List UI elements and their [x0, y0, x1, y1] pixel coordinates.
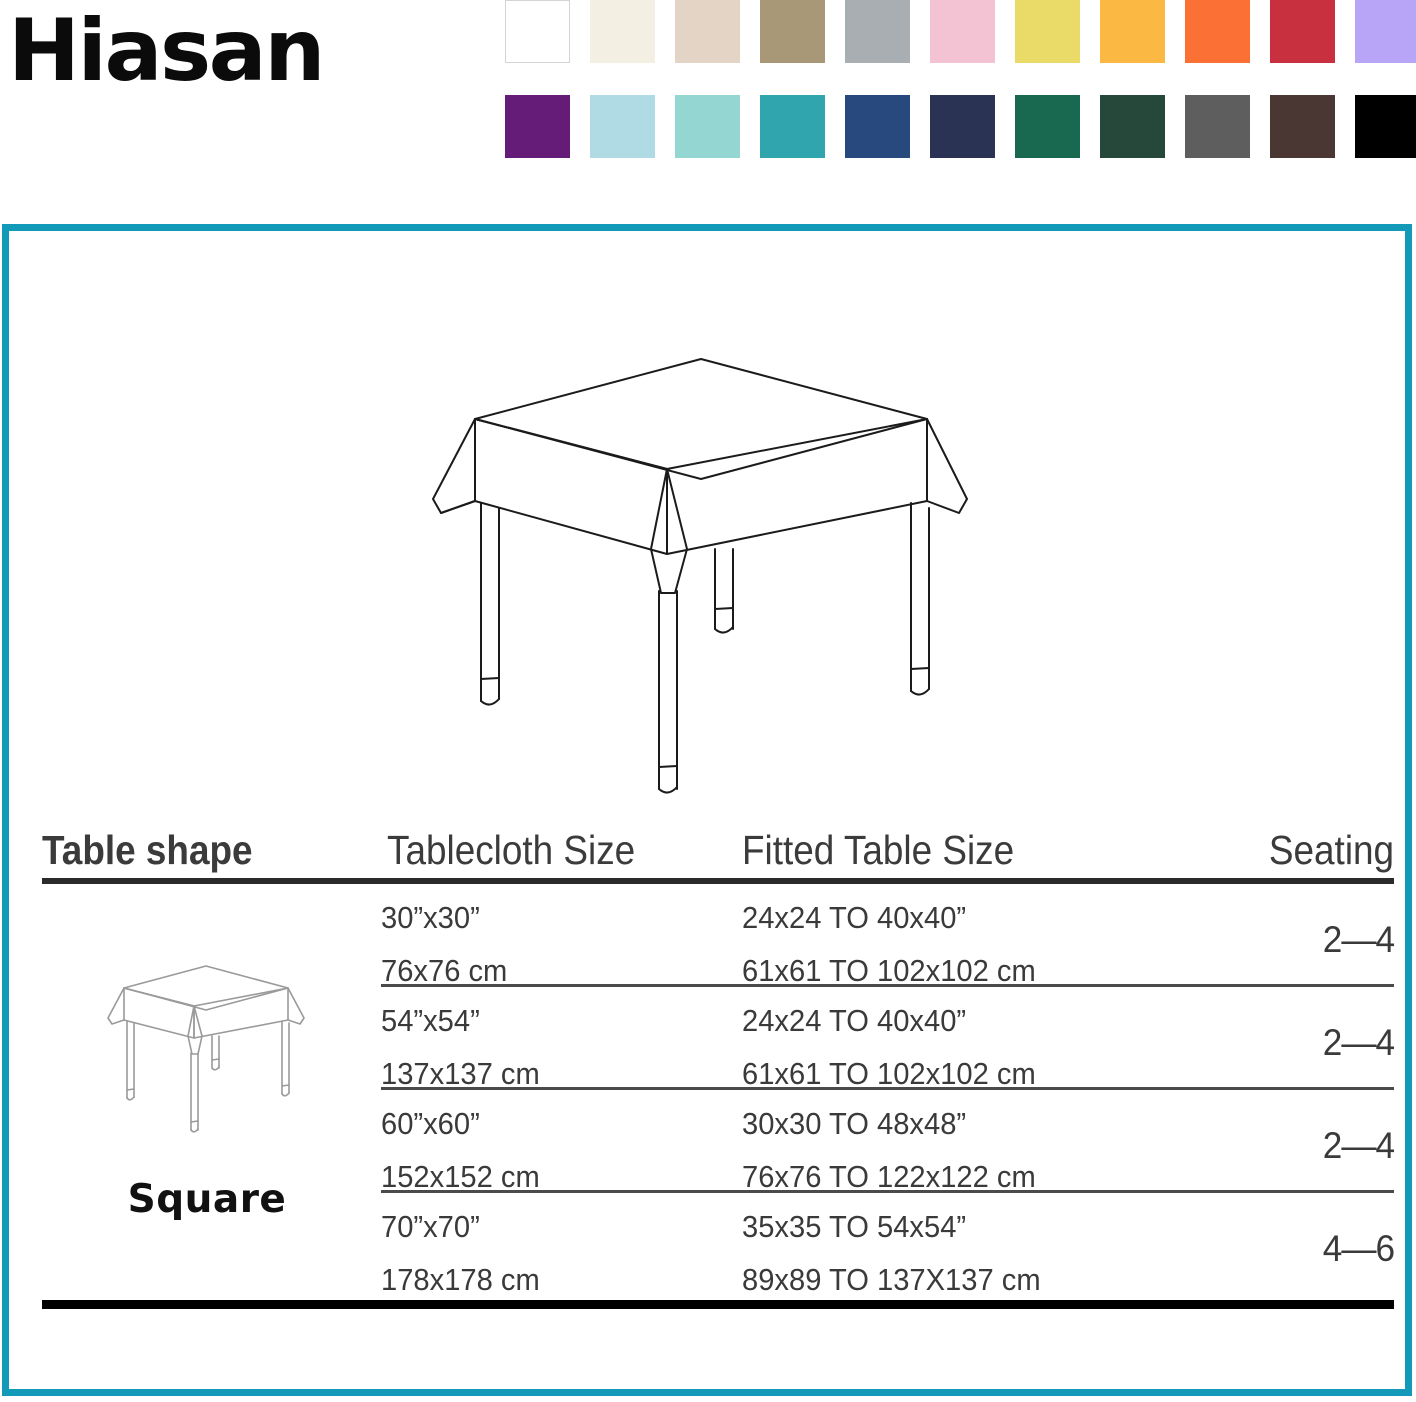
color-swatch-teal[interactable]: [760, 95, 825, 158]
color-swatch-light-blue[interactable]: [590, 95, 655, 158]
cell-fitted-size-cm: 61x61 TO 102x102 cm: [742, 1058, 1036, 1089]
color-swatch-taupe[interactable]: [760, 0, 825, 63]
cell-tablecloth-size-cm: 137x137 cm: [381, 1058, 540, 1089]
color-swatch-row-1: [505, 0, 1416, 63]
column-header-tablecloth-size: Tablecloth Size: [387, 830, 635, 871]
table-body: Square 30”x30”76x76 cm24x24 TO 40x40”61x…: [42, 884, 1394, 1296]
cell-fitted-size-in: 24x24 TO 40x40”: [742, 902, 966, 933]
color-swatch-white[interactable]: [505, 0, 570, 63]
color-swatch-forest-green[interactable]: [1100, 95, 1165, 158]
table-header-row: Table shape Tablecloth Size Fitted Table…: [42, 809, 1394, 871]
square-table-illustration: [419, 341, 999, 801]
cell-tablecloth-size-cm: 152x152 cm: [381, 1161, 540, 1192]
table-row: 30”x30”76x76 cm24x24 TO 40x40”61x61 TO 1…: [42, 884, 1394, 987]
cell-tablecloth-size-in: 60”x60”: [381, 1108, 480, 1139]
cell-tablecloth-size-in: 54”x54”: [381, 1005, 480, 1036]
color-swatch-row-2: [505, 95, 1416, 158]
size-table: Table shape Tablecloth Size Fitted Table…: [42, 809, 1394, 1309]
cell-seating: 2—4: [1323, 1127, 1394, 1164]
cell-fitted-size-cm: 61x61 TO 102x102 cm: [742, 955, 1036, 986]
cell-seating: 2—4: [1323, 921, 1394, 958]
color-swatch-pink[interactable]: [930, 0, 995, 63]
column-header-fitted-table-size: Fitted Table Size: [742, 830, 1014, 871]
color-swatch-purple[interactable]: [505, 95, 570, 158]
color-swatch-cream[interactable]: [590, 0, 655, 63]
brand-logo: Hiasan: [8, 8, 323, 94]
color-swatch-amber[interactable]: [1100, 0, 1165, 63]
color-swatch-panel: [505, 0, 1416, 158]
cell-tablecloth-size-in: 70”x70”: [381, 1211, 480, 1242]
cell-tablecloth-size-in: 30”x30”: [381, 902, 480, 933]
color-swatch-red[interactable]: [1270, 0, 1335, 63]
cell-fitted-size-cm: 89x89 TO 137X137 cm: [742, 1264, 1041, 1295]
color-swatch-black[interactable]: [1355, 95, 1416, 158]
color-swatch-beige[interactable]: [675, 0, 740, 63]
table-row: 54”x54”137x137 cm24x24 TO 40x40”61x61 TO…: [42, 987, 1394, 1090]
cell-fitted-size-in: 24x24 TO 40x40”: [742, 1005, 966, 1036]
column-header-table-shape: Table shape: [42, 830, 253, 871]
color-swatch-lavender[interactable]: [1355, 0, 1416, 63]
footer-rule: [42, 1300, 1394, 1309]
cell-fitted-size-in: 35x35 TO 54x54”: [742, 1211, 966, 1242]
table-row: 70”x70”178x178 cm35x35 TO 54x54”89x89 TO…: [42, 1193, 1394, 1296]
size-chart-card: Table shape Tablecloth Size Fitted Table…: [2, 224, 1412, 1396]
color-swatch-aqua[interactable]: [675, 95, 740, 158]
color-swatch-emerald[interactable]: [1015, 95, 1080, 158]
column-header-seating: Seating: [1269, 830, 1394, 871]
color-swatch-yellow[interactable]: [1015, 0, 1080, 63]
top-bar: Hiasan: [0, 0, 1416, 200]
cell-seating: 4—6: [1323, 1230, 1394, 1267]
table-rows: 30”x30”76x76 cm24x24 TO 40x40”61x61 TO 1…: [42, 884, 1394, 1296]
table-row: 60”x60”152x152 cm30x30 TO 48x48”76x76 TO…: [42, 1090, 1394, 1193]
color-swatch-orange[interactable]: [1185, 0, 1250, 63]
cell-fitted-size-cm: 76x76 TO 122x122 cm: [742, 1161, 1036, 1192]
cell-fitted-size-in: 30x30 TO 48x48”: [742, 1108, 966, 1139]
color-swatch-light-gray[interactable]: [845, 0, 910, 63]
color-swatch-dark-gray[interactable]: [1185, 95, 1250, 158]
cell-seating: 2—4: [1323, 1024, 1394, 1061]
cell-tablecloth-size-cm: 178x178 cm: [381, 1264, 540, 1295]
color-swatch-navy[interactable]: [930, 95, 995, 158]
color-swatch-blue[interactable]: [845, 95, 910, 158]
cell-tablecloth-size-cm: 76x76 cm: [381, 955, 507, 986]
color-swatch-dark-brown[interactable]: [1270, 95, 1335, 158]
